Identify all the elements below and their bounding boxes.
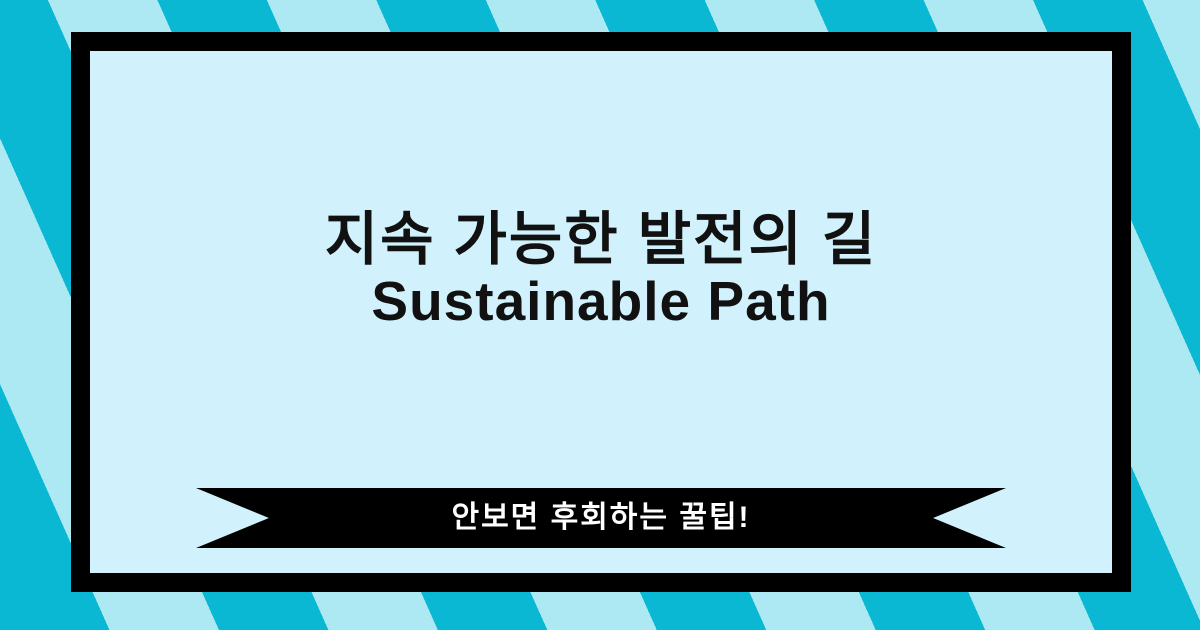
headline-english: Sustainable Path	[321, 272, 881, 330]
ribbon-label: 안보면 후회하는 꿀팁!	[451, 503, 750, 533]
headline-korean: 지속 가능한 발전의 길	[90, 209, 1112, 270]
black-frame-border: 지속 가능한 발전의 길 Sustainable Path 안보면 후회하는 꿀…	[71, 32, 1131, 592]
ribbon-banner: 안보면 후회하는 꿀팁!	[196, 488, 1006, 548]
headline-block: 지속 가능한 발전의 길 Sustainable Path	[90, 209, 1112, 331]
poster-canvas: 지속 가능한 발전의 길 Sustainable Path 안보면 후회하는 꿀…	[0, 0, 1200, 630]
content-card: 지속 가능한 발전의 길 Sustainable Path 안보면 후회하는 꿀…	[90, 51, 1112, 573]
